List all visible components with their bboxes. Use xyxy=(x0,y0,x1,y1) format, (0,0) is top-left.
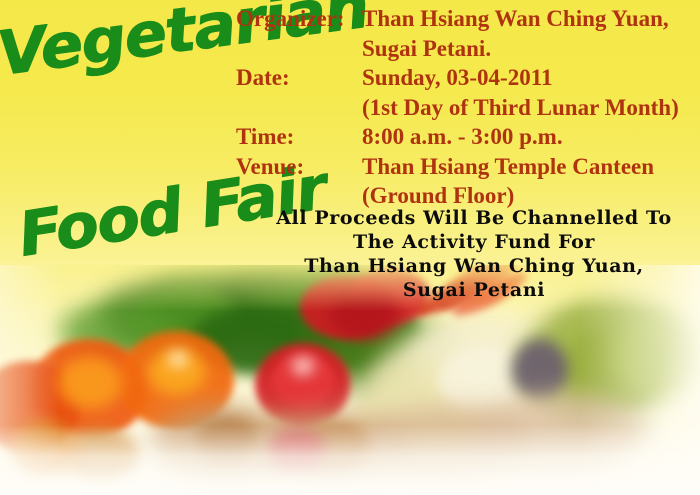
detail-row-venue: Venue: Than Hsiang Temple Canteen xyxy=(236,152,700,182)
detail-value-venue: Than Hsiang Temple Canteen xyxy=(362,152,700,182)
detail-row-organizer: Organizer: Than Hsiang Wan Ching Yuan, xyxy=(236,4,700,34)
detail-label-date: Date: xyxy=(236,63,362,93)
detail-row-time: Time: 8:00 a.m. - 3:00 p.m. xyxy=(236,122,700,152)
detail-value-time: 8:00 a.m. - 3:00 p.m. xyxy=(362,122,700,152)
detail-value-date-lunar: (1st Day of Third Lunar Month) xyxy=(362,93,700,123)
detail-value-organizer: Than Hsiang Wan Ching Yuan, xyxy=(362,4,700,34)
proceeds-line-1: All Proceeds Will Be Channelled To xyxy=(248,206,700,230)
proceeds-line-3: Than Hsiang Wan Ching Yuan, xyxy=(248,254,700,278)
detail-value-organizer-continued: Sugai Petani. xyxy=(362,34,700,64)
proceeds-line-4: Sugai Petani xyxy=(248,278,700,302)
detail-row-organizer-continued: Sugai Petani. xyxy=(236,34,700,64)
event-details: Organizer: Than Hsiang Wan Ching Yuan, S… xyxy=(236,4,700,211)
proceeds-statement: All Proceeds Will Be Channelled To The A… xyxy=(248,206,700,302)
proceeds-line-2: The Activity Fund For xyxy=(248,230,700,254)
detail-label-time: Time: xyxy=(236,122,362,152)
detail-value-date: Sunday, 03-04-2011 xyxy=(362,63,700,93)
detail-label-venue: Venue: xyxy=(236,152,362,182)
vegetarian-food-fair-poster: Vegetarian Food Fair Organizer: Than Hsi… xyxy=(0,0,700,495)
detail-row-date: Date: Sunday, 03-04-2011 xyxy=(236,63,700,93)
detail-row-date-continued: (1st Day of Third Lunar Month) xyxy=(236,93,700,123)
detail-label-organizer: Organizer: xyxy=(236,4,362,34)
